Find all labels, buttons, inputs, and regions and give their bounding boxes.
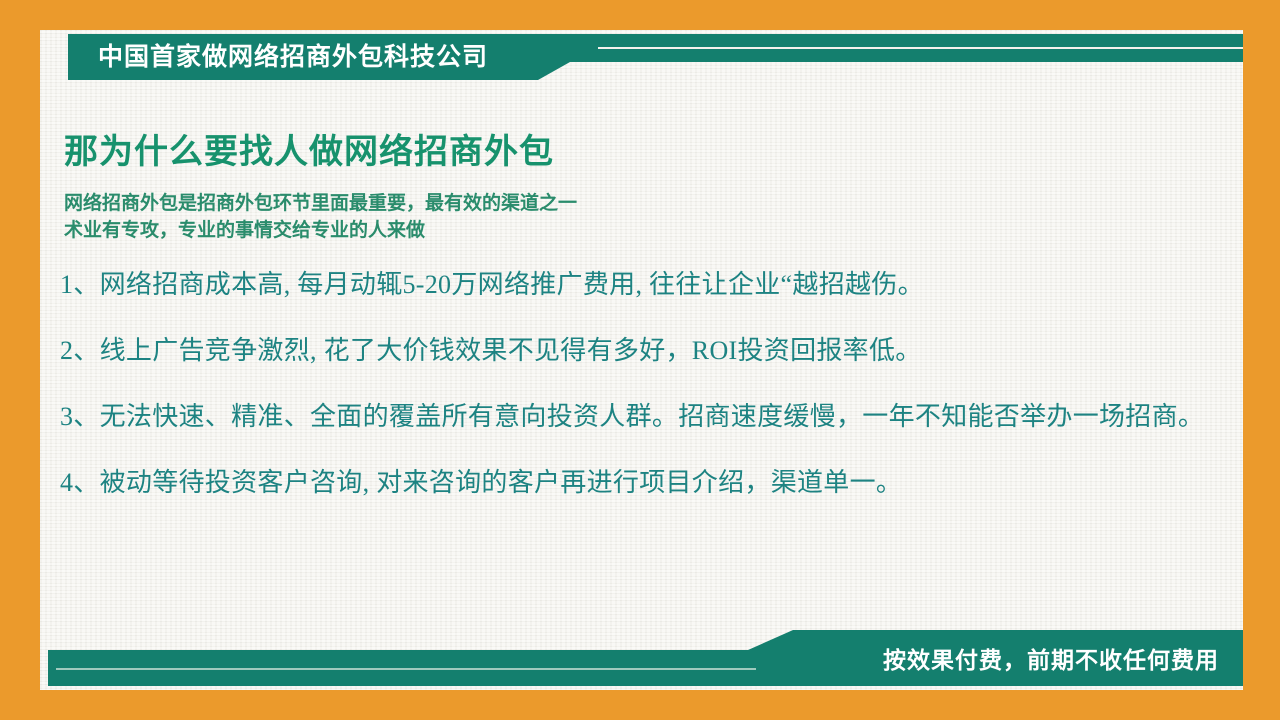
list-item: 3、无法快速、精准、全面的覆盖所有意向投资人群。招商速度缓慢，一年不知能否举办一…: [60, 398, 1235, 436]
slide-canvas: 中国首家做网络招商外包科技公司 那为什么要找人做网络招商外包 网络招商外包是招商…: [0, 0, 1280, 720]
company-tagline: 中国首家做网络招商外包科技公司: [98, 41, 488, 73]
footer-bar: 按效果付费，前期不收任何费用: [48, 630, 1243, 686]
subtitle-block: 网络招商外包是招商外包环节里面最重要，最有效的渠道之一 术业有专攻，专业的事情交…: [64, 190, 1235, 244]
list-item: 1、网络招商成本高, 每月动辄5-20万网络推广费用, 往往让企业“越招越伤。: [60, 266, 1235, 304]
reasons-list: 1、网络招商成本高, 每月动辄5-20万网络推广费用, 往往让企业“越招越伤。 …: [60, 266, 1235, 502]
footer-tagline: 按效果付费，前期不收任何费用: [883, 644, 1219, 676]
subtitle-line-2: 术业有专攻，专业的事情交给专业的人来做: [64, 217, 1235, 244]
top-margin-band: [40, 0, 1243, 30]
list-item: 2、线上广告竞争激烈, 花了大价钱效果不见得有多好，ROI投资回报率低。: [60, 332, 1235, 370]
header-hairline-rule: [598, 47, 1243, 49]
footer-hairline-rule: [56, 668, 756, 670]
slide-content: 那为什么要找人做网络招商外包 网络招商外包是招商外包环节里面最重要，最有效的渠道…: [60, 128, 1235, 502]
list-item: 4、被动等待投资客户咨询, 对来咨询的客户再进行项目介绍，渠道单一。: [60, 464, 1235, 502]
header-bar: 中国首家做网络招商外包科技公司: [68, 34, 1243, 80]
subtitle-line-1: 网络招商外包是招商外包环节里面最重要，最有效的渠道之一: [64, 190, 1235, 217]
page-title: 那为什么要找人做网络招商外包: [64, 128, 1235, 176]
bottom-margin-band: [40, 690, 1243, 720]
